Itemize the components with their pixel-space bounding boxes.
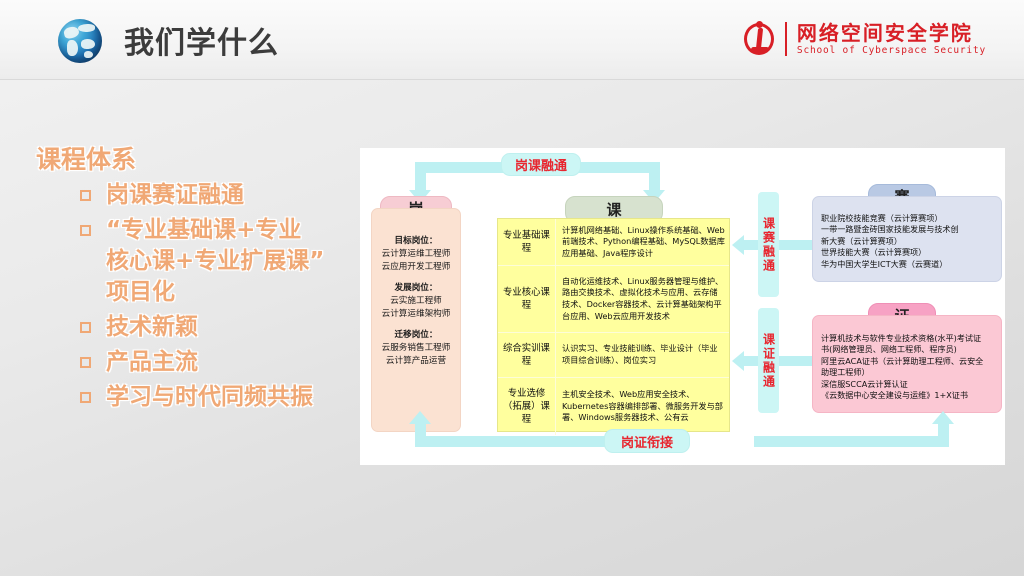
zheng-line: 《云数据中心安全建设与运维》1+X证书 — [821, 390, 995, 401]
ke-sai-arrow-left-bar — [744, 240, 759, 250]
ke-zheng-arrow-left-bar — [744, 356, 759, 366]
list-item: 岗课赛证融通 — [36, 180, 366, 211]
list-item: “专业基础课+专业 核心课+专业扩展课” 项目化 — [36, 215, 366, 308]
square-bullet-icon — [80, 190, 91, 201]
bottom-arrow-left-bar — [415, 436, 610, 447]
zheng-line: 深信服SCCA云计算认证 — [821, 379, 995, 390]
sai-box: 职业院校技能竞赛（云计算赛项） 一带一路暨金砖国家技能发展与技术创 新大赛（云计… — [812, 196, 1002, 282]
top-label-gangke-ronghtong: 岗课融通 — [501, 153, 581, 176]
cyberspace-security-logo-icon — [743, 19, 777, 59]
list-item: 技术新颖 — [36, 312, 366, 343]
square-bullet-icon — [80, 357, 91, 368]
bottom-arrow-right-stem — [938, 423, 949, 437]
table-row: 专业基础课程 计算机网络基础、Linux操作系统基础、Web前端技术、Pytho… — [498, 219, 729, 266]
course-table: 专业基础课程 计算机网络基础、Linux操作系统基础、Web前端技术、Pytho… — [497, 218, 730, 432]
list-item: 产品主流 — [36, 347, 366, 378]
course-content: 计算机网络基础、Linux操作系统基础、Web前端技术、Python编程基础、M… — [556, 219, 729, 265]
gang-box: 目标岗位： 云计算运维工程师 云应用开发工程师 发展岗位： 云实施工程师 云计算… — [371, 208, 461, 432]
gang-group: 发展岗位： 云实施工程师 云计算运维架构师 — [377, 282, 455, 320]
course-category: 综合实训课程 — [498, 333, 556, 377]
course-content: 主机安全技术、Web应用安全技术、Kubernetes容器编排部署、微服务开发与… — [556, 378, 729, 435]
top-arrow-left-bar — [415, 162, 510, 173]
logo-name-en: School of Cyberspace Security — [797, 44, 986, 57]
mid-label-kezheng-text: 课证融通 — [761, 333, 777, 389]
ke-zheng-arrow-right-bar — [779, 356, 815, 366]
bottom-arrow-left-head-icon — [409, 411, 431, 424]
sai-line: 世界技能大赛（云计算赛项） — [821, 247, 995, 258]
course-category: 专业核心课程 — [498, 266, 556, 332]
gang-group-heading: 迁移岗位： — [377, 329, 455, 342]
square-bullet-icon — [80, 225, 91, 236]
ke-sai-arrow-left-head-icon — [732, 235, 744, 255]
header-divider — [0, 79, 1024, 80]
list-item: 学习与时代同频共振 — [36, 382, 366, 413]
slide-header: 我们学什么 网络空间安全学院 School of Cyberspace Secu… — [0, 0, 1024, 80]
zheng-line: 计算机技术与软件专业技术资格(水平)考试证 — [821, 333, 995, 344]
gang-group-line: 云应用开发工程师 — [377, 261, 455, 274]
course-content: 自动化运维技术、Linux服务器管理与维护、路由交换技术、虚拟化技术与应用、云存… — [556, 266, 729, 332]
logo-divider — [785, 22, 787, 56]
sai-line: 一带一路暨金砖国家技能发展与技术创 — [821, 224, 995, 235]
ke-sai-arrow-right-bar — [779, 240, 815, 250]
list-item-label: 产品主流 — [106, 347, 198, 378]
gang-group: 迁移岗位： 云服务销售工程师 云计算产品运营 — [377, 329, 455, 367]
logo-name-cn: 网络空间安全学院 — [797, 22, 986, 44]
sai-line: 职业院校技能竞赛（云计算赛项） — [821, 213, 995, 224]
top-arrow-left-stem — [415, 162, 426, 190]
gang-group: 目标岗位： 云计算运维工程师 云应用开发工程师 — [377, 235, 455, 273]
ke-zheng-arrow-left-head-icon — [732, 351, 744, 371]
list-item-label: “专业基础课+专业 — [106, 215, 324, 246]
mid-label-kesai-text: 课赛融通 — [761, 217, 777, 273]
gang-group-line: 云计算产品运营 — [377, 355, 455, 368]
gang-group-line: 云服务销售工程师 — [377, 342, 455, 355]
list-item-label: 学习与时代同频共振 — [106, 382, 313, 413]
list-item-label-line3: 项目化 — [106, 277, 324, 308]
table-row: 专业核心课程 自动化运维技术、Linux服务器管理与维护、路由交换技术、虚拟化技… — [498, 266, 729, 333]
table-row: 专业选修（拓展）课程 主机安全技术、Web应用安全技术、Kubernetes容器… — [498, 378, 729, 435]
bullet-list-heading: 课程体系 — [36, 143, 366, 176]
mid-label-kezheng-rongtong: 课证融通 — [758, 308, 779, 413]
bullet-list: 课程体系 岗课赛证融通 “专业基础课+专业 核心课+专业扩展课” 项目化 技术新… — [36, 143, 366, 413]
bottom-arrow-right-head-icon — [932, 411, 954, 424]
zheng-line: 书(网络管理员、网络工程师、程序员) — [821, 344, 995, 355]
gang-group-line: 云实施工程师 — [377, 295, 455, 308]
gang-group-heading: 发展岗位： — [377, 282, 455, 295]
gang-group-line: 云计算运维架构师 — [377, 308, 455, 321]
gang-group-heading: 目标岗位： — [377, 235, 455, 248]
course-category: 专业基础课程 — [498, 219, 556, 265]
zheng-line: 阿里云ACA证书（云计算助理工程师、云安全 — [821, 356, 995, 367]
top-arrow-right-stem — [649, 162, 660, 190]
bottom-label-gangzheng-xianjie: 岗证衔接 — [604, 429, 690, 453]
list-item-label-line2: 核心课+专业扩展课” — [106, 246, 324, 277]
square-bullet-icon — [80, 392, 91, 403]
gang-group-line: 云计算运维工程师 — [377, 248, 455, 261]
zheng-box: 计算机技术与软件专业技术资格(水平)考试证 书(网络管理员、网络工程师、程序员)… — [812, 315, 1002, 413]
table-row: 综合实训课程 认识实习、专业技能训练、毕业设计（毕业项目综合训练）、岗位实习 — [498, 333, 729, 378]
sai-line: 华为中国大学生ICT大赛（云赛道） — [821, 259, 995, 270]
school-logo: 网络空间安全学院 School of Cyberspace Security — [743, 14, 986, 64]
course-category: 专业选修（拓展）课程 — [498, 378, 556, 435]
globe-icon — [58, 19, 102, 63]
sai-line: 新大赛（云计算赛项） — [821, 236, 995, 247]
bottom-arrow-right-bar — [754, 436, 949, 447]
list-item-label: 岗课赛证融通 — [106, 180, 244, 211]
zheng-line: 助理工程师） — [821, 367, 995, 378]
course-content: 认识实习、专业技能训练、毕业设计（毕业项目综合训练）、岗位实习 — [556, 333, 729, 377]
list-item-label: 技术新颖 — [106, 312, 198, 343]
mid-label-kesai-rongtong: 课赛融通 — [758, 192, 779, 297]
bottom-arrow-left-stem — [415, 423, 426, 437]
curriculum-diagram: 岗课融通 岗 目标岗位： 云计算运维工程师 云应用开发工程师 发展岗位： 云实施… — [360, 148, 1005, 465]
square-bullet-icon — [80, 322, 91, 333]
page-title: 我们学什么 — [124, 18, 279, 62]
